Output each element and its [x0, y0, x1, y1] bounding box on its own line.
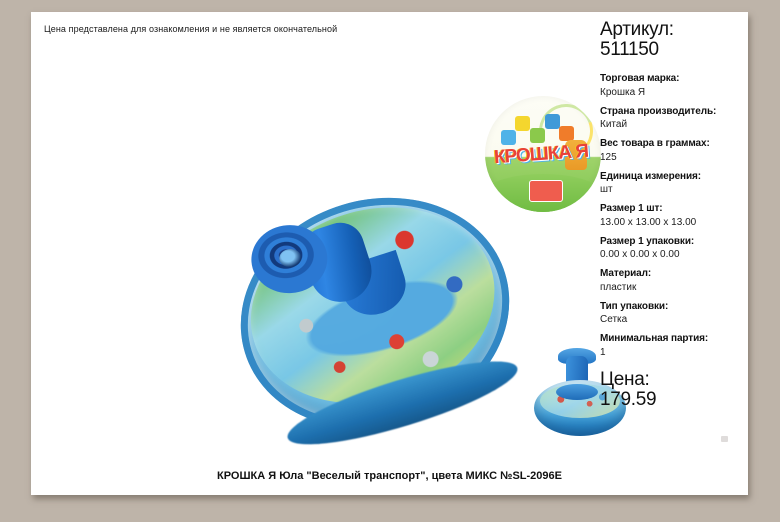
spec-value: Китай — [600, 118, 748, 131]
spec-row-pack-type: Тип упаковки: Сетка — [600, 301, 748, 327]
price-disclaimer: Цена представлена для ознакомления и не … — [44, 24, 337, 34]
spec-row-material: Материал: пластик — [600, 268, 748, 294]
spec-row-min-order: Минимальная партия: 1 — [600, 333, 748, 359]
spec-row-unit: Единица измерения: шт — [600, 171, 748, 197]
spec-label: Тип упаковки: — [600, 301, 748, 314]
spec-row-pack-size: Размер 1 упаковки: 0.00 x 0.00 x 0.00 — [600, 236, 748, 262]
spec-value: Сетка — [600, 313, 748, 326]
spec-label: Торговая марка: — [600, 73, 748, 86]
spec-value: 13.00 x 13.00 x 13.00 — [600, 216, 748, 229]
spec-row-item-size: Размер 1 шт: 13.00 x 13.00 x 13.00 — [600, 203, 748, 229]
spec-label: Размер 1 упаковки: — [600, 236, 748, 249]
spec-label: Размер 1 шт: — [600, 203, 748, 216]
paper-artifact — [721, 436, 728, 442]
sku-block: Артикул: 511150 — [600, 20, 748, 60]
spec-label: Материал: — [600, 268, 748, 281]
spec-label: Вес товара в граммах: — [600, 138, 748, 151]
brand-roundel-label: КРОШКА Я — [485, 96, 601, 212]
spec-value: 0.00 x 0.00 x 0.00 — [600, 248, 748, 261]
spec-label: Единица измерения: — [600, 171, 748, 184]
price-block: Цена: 179.59 — [600, 370, 748, 410]
price-label: Цена: — [600, 370, 748, 390]
spec-label: Минимальная партия: — [600, 333, 748, 346]
small-top-collar — [556, 384, 598, 400]
sku-label: Артикул: — [600, 20, 748, 40]
roundel-tag — [529, 180, 563, 202]
product-info-column: Артикул: 511150 Торговая марка: Крошка Я… — [600, 20, 748, 410]
spec-value: Крошка Я — [600, 86, 748, 99]
spec-value: 125 — [600, 151, 748, 164]
spec-value: пластик — [600, 281, 748, 294]
knob-hole — [279, 248, 302, 267]
spec-value: шт — [600, 183, 748, 196]
spinning-top-main-photo — [181, 180, 511, 450]
spec-row-brand: Торговая марка: Крошка Я — [600, 73, 748, 99]
spec-row-weight: Вес товара в граммах: 125 — [600, 138, 748, 164]
price-value: 179.59 — [600, 390, 748, 410]
spec-value: 1 — [600, 346, 748, 359]
spec-label: Страна производитель: — [600, 106, 748, 119]
sku-value: 511150 — [600, 40, 748, 60]
spec-row-country: Страна производитель: Китай — [600, 106, 748, 132]
product-caption: КРОШКА Я Юла "Веселый транспорт", цвета … — [31, 470, 748, 482]
screenshot-root: Цена представлена для ознакомления и не … — [0, 0, 780, 522]
product-sheet-page: Цена представлена для ознакомления и не … — [31, 12, 748, 495]
